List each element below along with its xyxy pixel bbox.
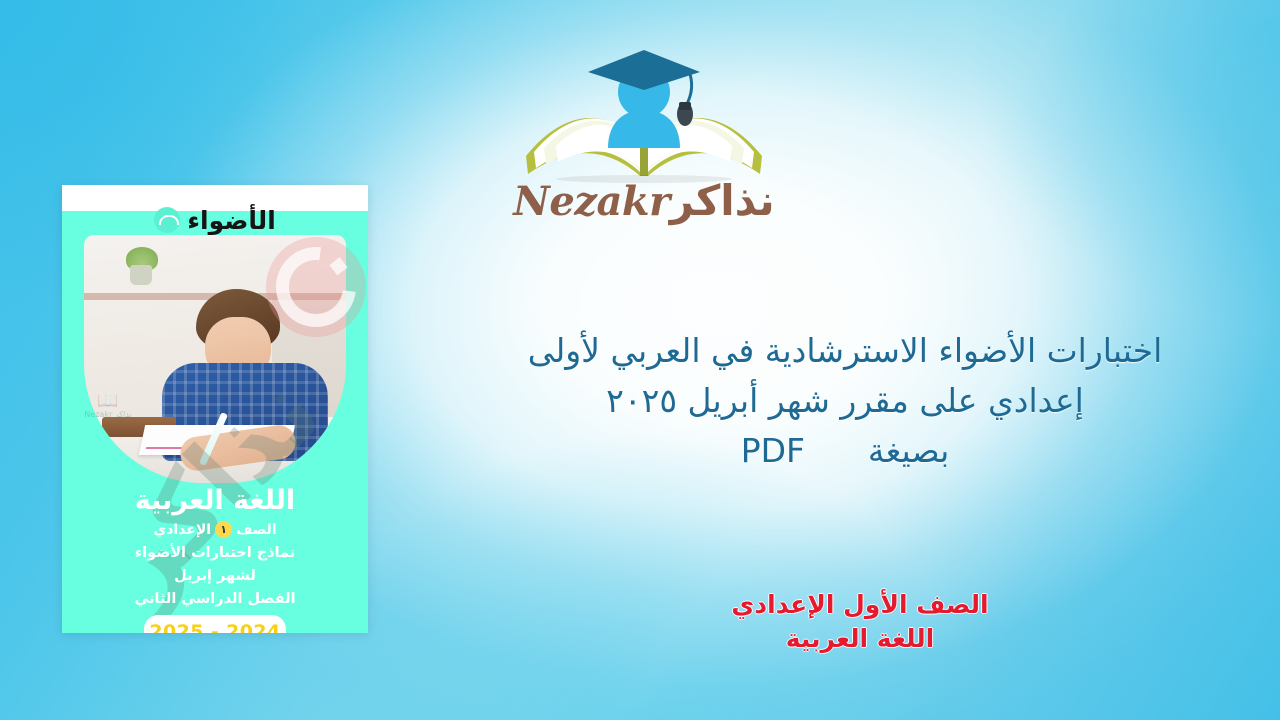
page-title-line-2: إعدادي على مقرر شهر أبريل ٢٠٢٥: [430, 376, 1260, 426]
cover-publisher-name: الأضواء: [187, 208, 276, 233]
page-title: اختبارات الأضواء الاسترشادية في العربي ل…: [430, 326, 1260, 476]
subtitle-grade: الصف الأول الإعدادي: [600, 588, 1120, 622]
adwaa-arc-icon: [154, 207, 180, 233]
cover-grade-line: الصف ١ الإعدادي: [62, 521, 368, 538]
subtitle-subject: اللغة العربية: [600, 622, 1120, 656]
cover-grade-badge: ١: [215, 521, 232, 538]
cover-year-badge: 2025 - 2024: [144, 615, 286, 633]
cover-publisher-brand: الأضواء: [62, 203, 368, 237]
cover-grade-prefix: الصف: [236, 522, 277, 538]
logo-wordmark-latin: Nezakr: [513, 182, 669, 222]
logo-wordmark-arabic: نذاكر: [670, 180, 775, 222]
cover-subline-1: نماذج اختبارات الأضواء: [62, 545, 368, 561]
nezakr-small-watermark-text: نذاكر Nezakr: [84, 410, 131, 419]
book-cover-image: الأضواء 📖 نذاكر Nezakr نذاكر اللغة: [62, 185, 368, 633]
nezakr-small-watermark: 📖 نذاكر Nezakr: [70, 393, 146, 420]
cover-grade-suffix: الإعدادي: [153, 522, 211, 538]
g-circle-watermark-icon: [266, 237, 366, 337]
page-subtitle: الصف الأول الإعدادي اللغة العربية: [600, 588, 1120, 655]
photo-plant-pot: [130, 265, 152, 285]
graduation-book-logo-icon: [514, 44, 774, 184]
poster-canvas: نذاكرNezakr اختبارات الأضواء الاسترشادية…: [0, 0, 1280, 720]
page-title-line-3: بصيغة PDF: [430, 426, 1260, 476]
cover-subline-3: الفصل الدراسي الثاني: [62, 591, 368, 607]
cover-subline-2: لشهر إبريل: [62, 568, 368, 584]
cover-title: اللغة العربية: [62, 485, 368, 516]
cover-year-text: 2025 - 2024: [149, 621, 280, 633]
open-book-icon: 📖: [70, 393, 146, 410]
logo-wordmark: نذاكرNezakr: [504, 180, 784, 222]
site-logo: نذاكرNezakr: [504, 44, 784, 244]
page-title-line-1: اختبارات الأضواء الاسترشادية في العربي ل…: [430, 326, 1260, 376]
